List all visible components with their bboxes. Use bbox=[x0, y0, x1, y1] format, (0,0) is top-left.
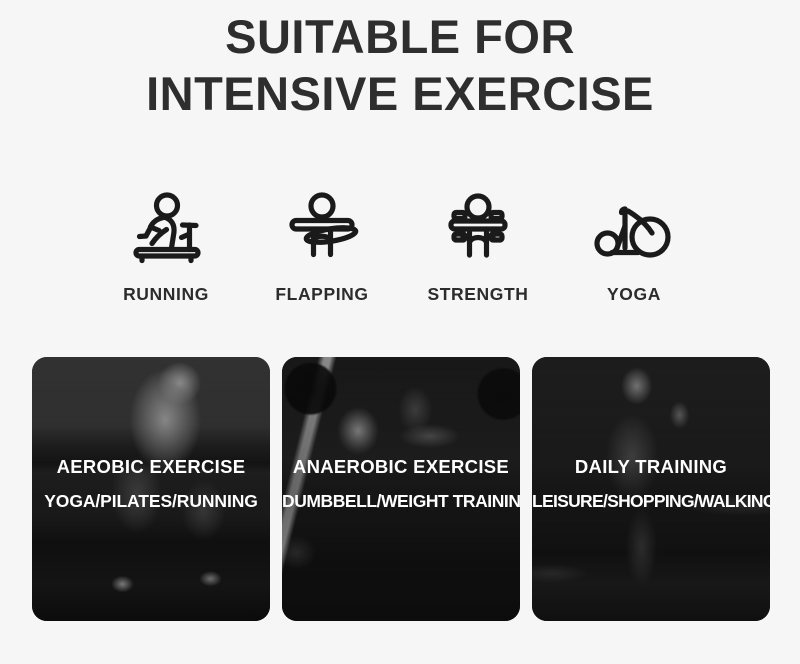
card-subtitle: DUMBBELL/WEIGHT TRAINING bbox=[282, 490, 520, 513]
barbell-strength-icon bbox=[438, 188, 518, 272]
card-caption: ANAEROBIC EXERCISE DUMBBELL/WEIGHT TRAIN… bbox=[282, 455, 520, 513]
activity-icon-row: RUNNING FLAPPING bbox=[88, 188, 712, 305]
card-subtitle: YOGA/PILATES/RUNNING bbox=[32, 490, 270, 513]
activity-label-running: RUNNING bbox=[123, 284, 209, 305]
activity-item-running: RUNNING bbox=[88, 188, 244, 305]
exercise-card-anaerobic[interactable]: ANAEROBIC EXERCISE DUMBBELL/WEIGHT TRAIN… bbox=[282, 357, 520, 621]
card-title: DAILY TRAINING bbox=[532, 455, 770, 479]
activity-item-flapping: FLAPPING bbox=[244, 188, 400, 305]
card-subtitle: LEISURE/SHOPPING/WALKING bbox=[532, 490, 770, 513]
page-title: SUITABLE FOR INTENSIVE EXERCISE bbox=[0, 8, 800, 122]
card-caption: AEROBIC EXERCISE YOGA/PILATES/RUNNING bbox=[32, 455, 270, 513]
activity-label-strength: STRENGTH bbox=[427, 284, 528, 305]
activity-item-strength: STRENGTH bbox=[400, 188, 556, 305]
card-title: ANAEROBIC EXERCISE bbox=[282, 455, 520, 479]
exercise-card-daily-training[interactable]: DAILY TRAINING LEISURE/SHOPPING/WALKING bbox=[532, 357, 770, 621]
activity-item-yoga: YOGA bbox=[556, 188, 712, 305]
activity-label-yoga: YOGA bbox=[607, 284, 661, 305]
exercise-card-row: AEROBIC EXERCISE YOGA/PILATES/RUNNING AN… bbox=[32, 357, 770, 621]
card-caption: DAILY TRAINING LEISURE/SHOPPING/WALKING bbox=[532, 455, 770, 513]
hula-hoop-flapping-icon bbox=[282, 188, 362, 272]
page-title-line-1: SUITABLE FOR bbox=[0, 8, 800, 65]
exercise-card-aerobic[interactable]: AEROBIC EXERCISE YOGA/PILATES/RUNNING bbox=[32, 357, 270, 621]
activity-label-flapping: FLAPPING bbox=[275, 284, 368, 305]
treadmill-running-icon bbox=[126, 188, 206, 272]
page-title-line-2: INTENSIVE EXERCISE bbox=[0, 65, 800, 122]
card-title: AEROBIC EXERCISE bbox=[32, 455, 270, 479]
yoga-pose-icon bbox=[592, 188, 676, 272]
